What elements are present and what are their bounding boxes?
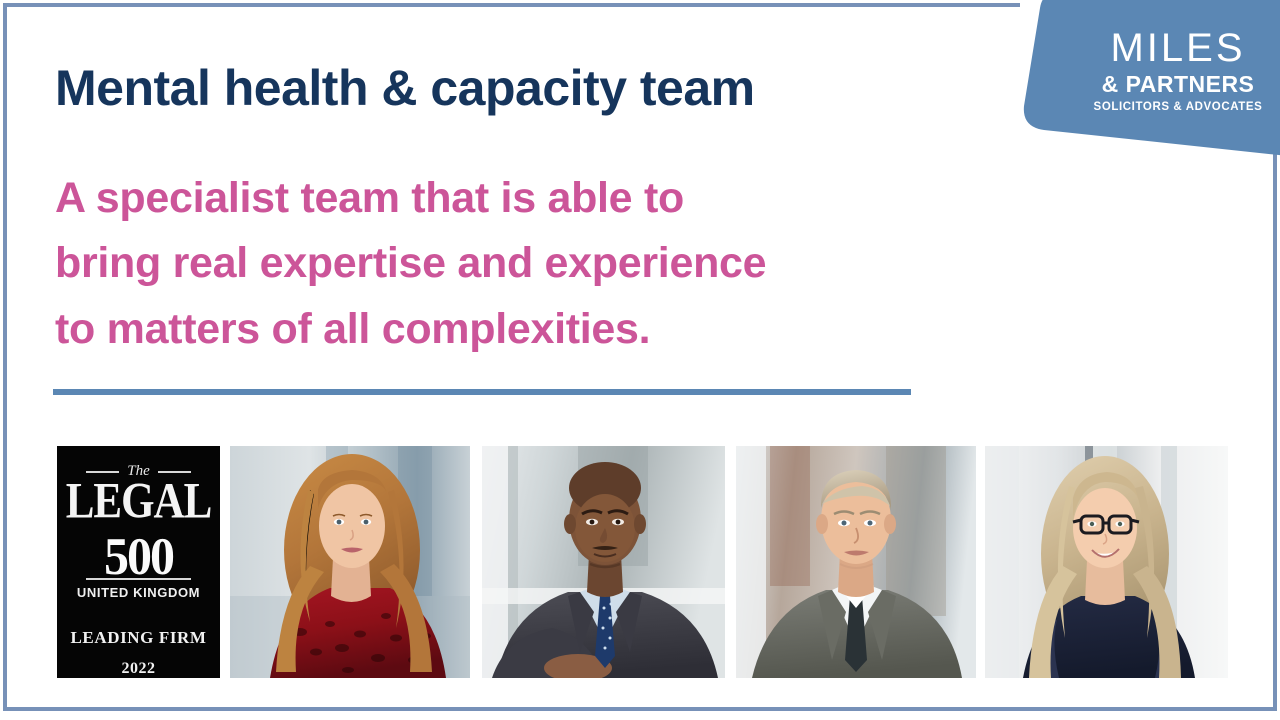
divider-rule [53, 389, 911, 395]
badge-number: 500 [57, 530, 220, 583]
team-photo-2-image [482, 446, 725, 678]
team-photo-1-image [230, 446, 470, 678]
subtitle-line-2: bring real expertise and experience [55, 231, 935, 296]
company-logo[interactable]: MILES & PARTNERS SOLICITORS & ADVOCATES [1008, 0, 1280, 170]
presentation-slide: Mental health & capacity team A speciali… [0, 0, 1280, 720]
legal500-award-badge: The LEGAL 500 UNITED KINGDOM LEADING FIR… [57, 446, 220, 678]
team-photo-4-image [985, 446, 1228, 678]
badge-rank: LEADING FIRM [57, 628, 220, 648]
badge-legal-word: LEGAL [57, 476, 220, 527]
badge-country: UNITED KINGDOM [57, 585, 220, 600]
badge-year: 2022 [57, 660, 220, 678]
photo-strip: The LEGAL 500 UNITED KINGDOM LEADING FIR… [0, 446, 1280, 678]
subtitle-line-3: to matters of all complexities. [55, 297, 935, 362]
team-photo-2 [482, 446, 725, 678]
subtitle-line-1: A specialist team that is able to [55, 166, 935, 231]
team-photo-3 [736, 446, 976, 678]
team-photo-4 [985, 446, 1228, 678]
team-photo-3-image [736, 446, 976, 678]
team-photo-1 [230, 446, 470, 678]
badge-rule-mid [86, 578, 191, 580]
page-title: Mental health & capacity team [55, 62, 955, 115]
subtitle-block: A specialist team that is able to bring … [55, 166, 935, 362]
